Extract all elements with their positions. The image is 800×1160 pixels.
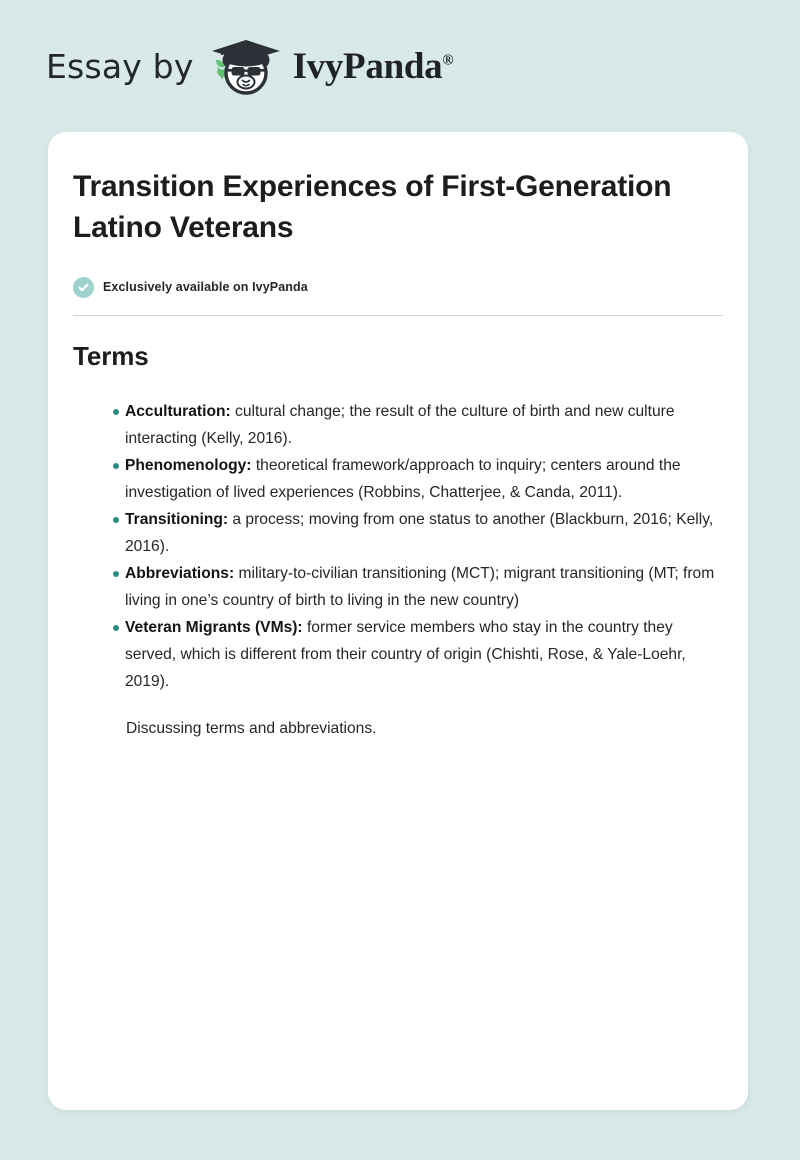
ivypanda-logo[interactable]: IvyPanda® — [208, 36, 454, 96]
brand-name-text: IvyPanda — [293, 46, 443, 87]
list-item: Acculturation: cultural change; the resu… — [73, 398, 723, 452]
term-label: Phenomenology: — [125, 457, 252, 474]
term-label: Transitioning: — [125, 511, 228, 528]
essay-by-label: Essay by — [46, 50, 194, 83]
page-title: Transition Experiences of First-Generati… — [73, 166, 723, 249]
exclusive-availability-badge: Exclusively available on IvyPanda — [73, 277, 723, 298]
list-item: Transitioning: a process; moving from on… — [73, 506, 723, 560]
term-label: Acculturation: — [125, 403, 231, 420]
term-label: Abbreviations: — [125, 565, 234, 582]
exclusive-availability-label: Exclusively available on IvyPanda — [103, 280, 308, 294]
list-item: Veteran Migrants (VMs): former service m… — [73, 614, 723, 695]
ivypanda-wordmark: IvyPanda® — [293, 48, 454, 85]
registered-trademark-symbol: ® — [442, 52, 453, 68]
panda-graduation-cap-icon — [208, 36, 284, 96]
document-card: Transition Experiences of First-Generati… — [48, 132, 748, 1110]
check-circle-icon — [73, 277, 94, 298]
section-heading-terms: Terms — [73, 341, 723, 372]
closing-note: Discussing terms and abbreviations. — [126, 715, 723, 742]
term-label: Veteran Migrants (VMs): — [125, 619, 303, 636]
list-item: Abbreviations: military-to-civilian tran… — [73, 560, 723, 614]
header-divider — [73, 315, 723, 316]
list-item: Phenomenology: theoretical framework/app… — [73, 452, 723, 506]
brand-header: Essay by — [0, 0, 800, 132]
terms-list: Acculturation: cultural change; the resu… — [73, 398, 723, 695]
